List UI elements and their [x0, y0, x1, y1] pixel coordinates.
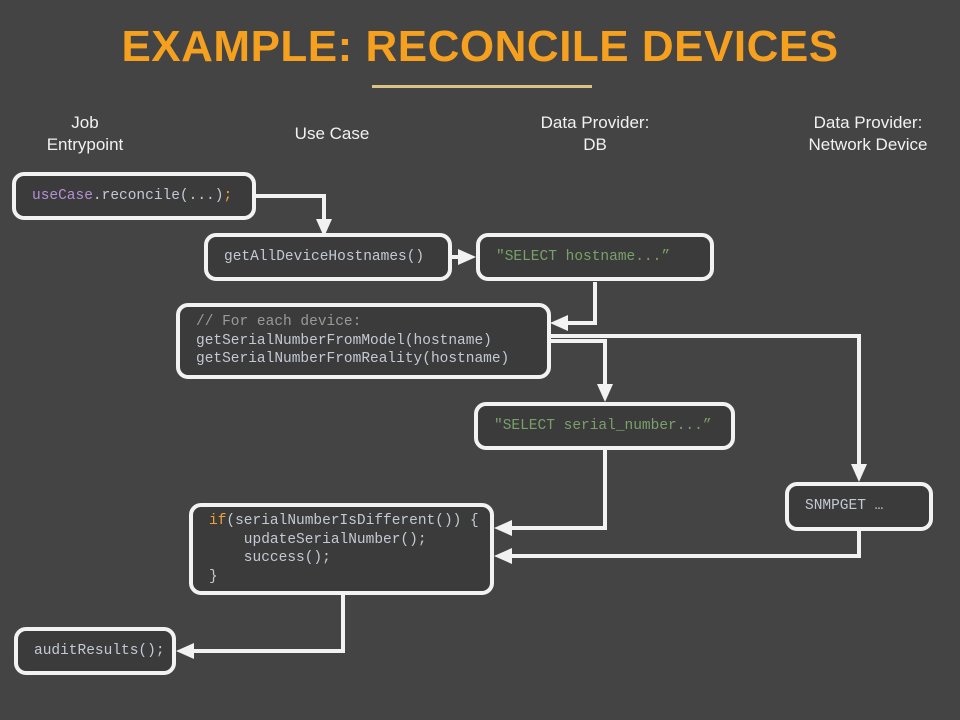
node-get-all-device-hostnames[interactable]: getAllDeviceHostnames()	[204, 233, 452, 281]
column-header-use-case: Use Case	[252, 123, 412, 145]
connector-if-to-audit	[176, 595, 343, 659]
node-use-case-reconcile[interactable]: useCase.reconcile(...);	[12, 172, 256, 220]
column-header-job-entrypoint: Job Entrypoint	[5, 112, 165, 156]
node-select-serial-number[interactable]: "SELECT serial_number...”	[474, 402, 735, 450]
node-if-serial-different[interactable]: if(serialNumberIsDifferent()) { updateSe…	[189, 503, 494, 595]
node-code-get-all-device-hostnames: getAllDeviceHostnames()	[224, 248, 432, 267]
node-code-audit-results: auditResults();	[34, 642, 156, 661]
slide-canvas: Example: Reconcile Devices Job Entrypoin…	[0, 0, 960, 720]
node-code-snmpget: SNMPGET …	[805, 497, 913, 516]
node-code-for-each-device: // For each device: getSerialNumberFromM…	[196, 313, 531, 369]
connector-reconcile-to-gethostnames	[256, 196, 332, 237]
node-code-select-serial-number: "SELECT serial_number...”	[494, 417, 715, 436]
node-audit-results[interactable]: auditResults();	[14, 627, 176, 675]
connector-snmpget-to-if	[494, 531, 859, 564]
title-underline	[372, 85, 592, 88]
connector-select-hostname-to-foreach	[550, 282, 595, 331]
connector-foreach-to-select-serial	[551, 341, 613, 402]
column-header-data-provider-db: Data Provider: DB	[515, 112, 675, 156]
node-code-use-case-reconcile: useCase.reconcile(...);	[32, 187, 236, 206]
page-title: Example: Reconcile Devices	[0, 22, 960, 72]
node-snmpget[interactable]: SNMPGET …	[785, 482, 933, 531]
node-code-if-serial-different: if(serialNumberIsDifferent()) { updateSe…	[209, 512, 474, 586]
column-header-data-provider-network-device: Data Provider: Network Device	[778, 112, 958, 156]
node-code-select-hostname: "SELECT hostname...”	[496, 248, 694, 267]
node-for-each-device[interactable]: // For each device: getSerialNumberFromM…	[176, 303, 551, 379]
node-select-hostname[interactable]: "SELECT hostname...”	[476, 233, 714, 281]
connector-gethostnames-to-select-hostname	[452, 249, 476, 265]
connector-select-serial-to-if	[494, 450, 605, 536]
